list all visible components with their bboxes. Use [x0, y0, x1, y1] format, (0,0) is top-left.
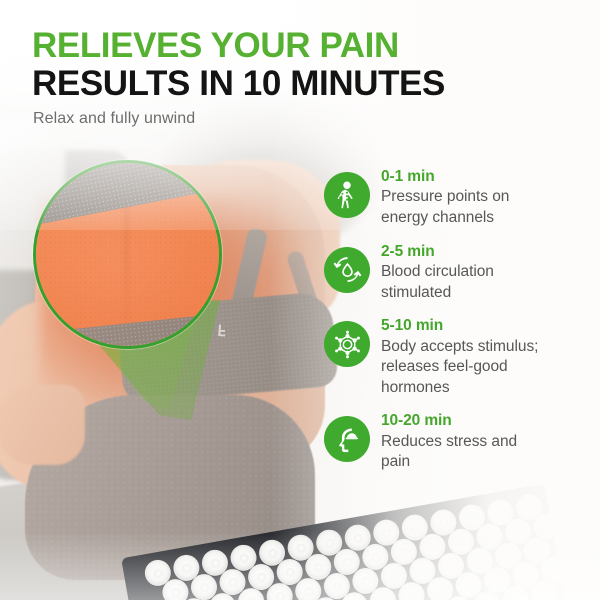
body-pressure-points-icon	[324, 172, 370, 218]
head-relief-icon	[324, 416, 370, 462]
timeline-item: 10-20 minReduces stress and pain	[324, 410, 592, 473]
headline-block: RELIEVES YOUR PAIN RESULTS IN 10 MINUTES	[32, 28, 572, 103]
timeline-item: 2-5 minBlood circulation stimulated	[324, 241, 592, 304]
timeline-item-text: 0-1 minPressure points on energy channel…	[381, 166, 509, 229]
headline-primary: RELIEVES YOUR PAIN	[32, 28, 572, 64]
timeline-item-time: 0-1 min	[381, 167, 509, 186]
timeline-feature-list: 0-1 minPressure points on energy channel…	[324, 166, 592, 485]
timeline-item: 5-10 minBody accepts stimulus; releases …	[324, 315, 592, 398]
timeline-item-time: 5-10 min	[381, 316, 538, 335]
timeline-item-time: 10-20 min	[381, 411, 517, 430]
timeline-item-description: Body accepts stimulus; releases feel-goo…	[381, 337, 538, 399]
timeline-item-time: 2-5 min	[381, 242, 494, 261]
product-infographic: Ⅎ RELIEVES YOUR PAIN RESULTS IN 10 MINUT…	[0, 0, 600, 600]
molecule-hormone-icon	[324, 321, 370, 367]
timeline-item-text: 10-20 minReduces stress and pain	[381, 410, 517, 473]
magnifier-lens	[33, 160, 222, 349]
timeline-item: 0-1 minPressure points on energy channel…	[324, 166, 592, 229]
timeline-item-text: 5-10 minBody accepts stimulus; releases …	[381, 315, 538, 398]
timeline-item-description: Blood circulation stimulated	[381, 262, 494, 303]
blood-circulation-icon	[324, 247, 370, 293]
timeline-item-description: Reduces stress and pain	[381, 432, 517, 473]
timeline-item-text: 2-5 minBlood circulation stimulated	[381, 241, 494, 304]
model-foot	[0, 385, 85, 465]
headline-subtitle: Relax and fully unwind	[33, 110, 195, 128]
timeline-item-description: Pressure points on energy channels	[381, 187, 509, 228]
headline-secondary: RESULTS IN 10 MINUTES	[32, 66, 572, 102]
